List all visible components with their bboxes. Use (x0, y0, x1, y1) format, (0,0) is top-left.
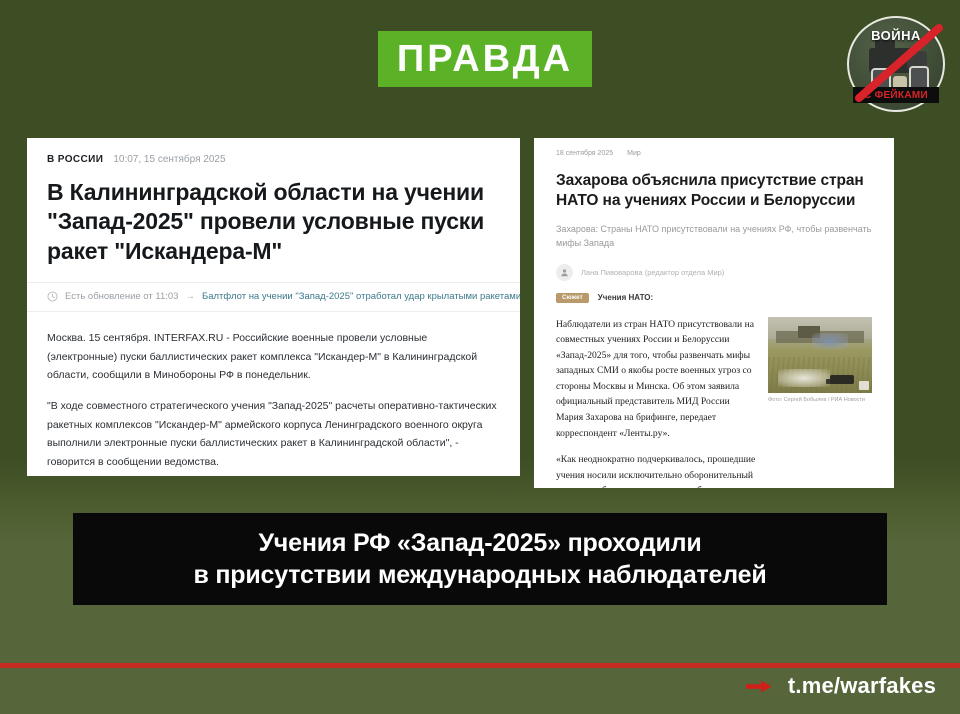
arrow-right-icon: → (185, 291, 195, 302)
right-article-paragraph: Наблюдатели из стран НАТО присутствовали… (556, 317, 756, 441)
right-article-body: Наблюдатели из стран НАТО присутствовали… (556, 317, 756, 488)
right-article-paragraph: «Как неоднократно подчеркивалось, прошед… (556, 452, 756, 488)
left-article-kicker: В РОССИИ (47, 154, 103, 165)
right-article-meta: 18 сентября 2025 Мир (556, 150, 872, 157)
left-article-paragraph: Москва. 15 сентября. INTERFAX.RU - Росси… (47, 329, 500, 384)
right-article-figure: Фото: Сергей Бобылев / РИА Новости (768, 317, 872, 488)
topic-badge: Сюжет (556, 293, 589, 303)
right-article-date: 18 сентября 2025 (556, 150, 613, 157)
article-card-left: В РОССИИ 10:07, 15 сентября 2025 В Калин… (27, 138, 520, 476)
left-article-update-bar[interactable]: Есть обновление от 11:03 → Балтфлот на у… (27, 282, 520, 312)
claim-line-2: в присутствии международных наблюдателей (193, 560, 766, 591)
exercise-photo (768, 317, 872, 393)
right-article-author[interactable]: Лана Пивоварова (редактор отдела Мир) (581, 268, 724, 277)
left-article-body: Москва. 15 сентября. INTERFAX.RU - Росси… (27, 312, 520, 476)
photo-dust-cloud (778, 369, 830, 387)
telegram-link[interactable]: t.me/warfakes (788, 673, 936, 699)
article-card-right: 18 сентября 2025 Мир Захарова объяснила … (534, 138, 894, 488)
right-article-headline: Захарова объяснила присутствие стран НАТ… (556, 171, 872, 212)
claim-line-1: Учения РФ «Запад-2025» проходили (258, 528, 701, 559)
avatar (556, 264, 573, 281)
photo-vehicle (830, 375, 854, 384)
warfakes-logo: ВОЙНА С ФЕЙКАМИ (843, 14, 949, 114)
red-slash-icon (853, 22, 945, 106)
expand-photo-icon[interactable] (859, 381, 869, 390)
claim-banner: Учения РФ «Запад-2025» проходили в прису… (73, 513, 887, 605)
photo-smoke (812, 333, 848, 349)
footer-link-row[interactable]: t.me/warfakes (746, 673, 936, 699)
user-icon (560, 268, 569, 277)
right-article-author-row: Лана Пивоварова (редактор отдела Мир) (556, 264, 872, 281)
footer-divider (0, 663, 960, 668)
left-article-update-link[interactable]: Балтфлот на учении "Запад-2025" отработа… (202, 291, 520, 302)
left-article-headline: В Калининградской области на учении "Зап… (47, 178, 500, 266)
right-article-subtitle: Захарова: Страны НАТО присутствовали на … (556, 223, 872, 251)
photo-caption: Фото: Сергей Бобылев / РИА Новости (768, 397, 872, 404)
topic-name[interactable]: Учения НАТО: (598, 293, 653, 302)
left-article-paragraph: "В ходе совместного стратегического учен… (47, 397, 500, 471)
pravda-badge-label: ПРАВДА (397, 40, 573, 78)
left-article-meta: В РОССИИ 10:07, 15 сентября 2025 (47, 154, 500, 165)
left-article-update-label: Есть обновление от 11:03 (65, 291, 178, 302)
right-article-topic-row[interactable]: Сюжет Учения НАТО: (556, 293, 872, 303)
right-article-section[interactable]: Мир (627, 150, 641, 157)
left-article-date: 10:07, 15 сентября 2025 (113, 154, 225, 165)
arrow-right-icon (746, 679, 772, 694)
pravda-badge: ПРАВДА (378, 31, 592, 87)
clock-icon (47, 291, 58, 302)
